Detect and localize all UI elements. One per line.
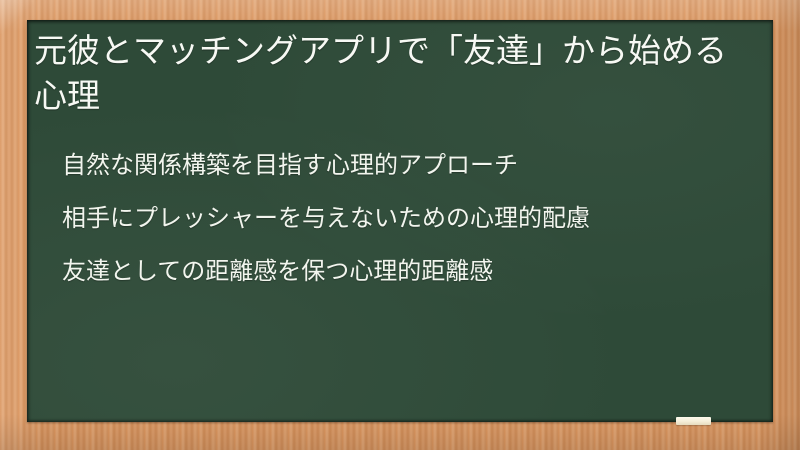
blackboard-frame: 元彼とマッチングアプリで「友達」から始める心理 自然な関係構築を目指す心理的アプ… <box>0 0 800 450</box>
chalk-stick <box>676 417 711 425</box>
board-title: 元彼とマッチングアプリで「友達」から始める心理 <box>34 28 757 118</box>
board-content: 元彼とマッチングアプリで「友達」から始める心理 自然な関係構築を目指す心理的アプ… <box>27 20 773 422</box>
list-item: 友達としての距離感を保つ心理的距離感 <box>62 245 757 298</box>
list-item: 相手にプレッシャーを与えないための心理的配慮 <box>62 192 757 245</box>
list-item: 自然な関係構築を目指す心理的アプローチ <box>62 139 757 192</box>
chalkboard-surface: 元彼とマッチングアプリで「友達」から始める心理 自然な関係構築を目指す心理的アプ… <box>27 20 773 422</box>
bullet-list: 自然な関係構築を目指す心理的アプローチ 相手にプレッシャーを与えないための心理的… <box>34 139 757 298</box>
